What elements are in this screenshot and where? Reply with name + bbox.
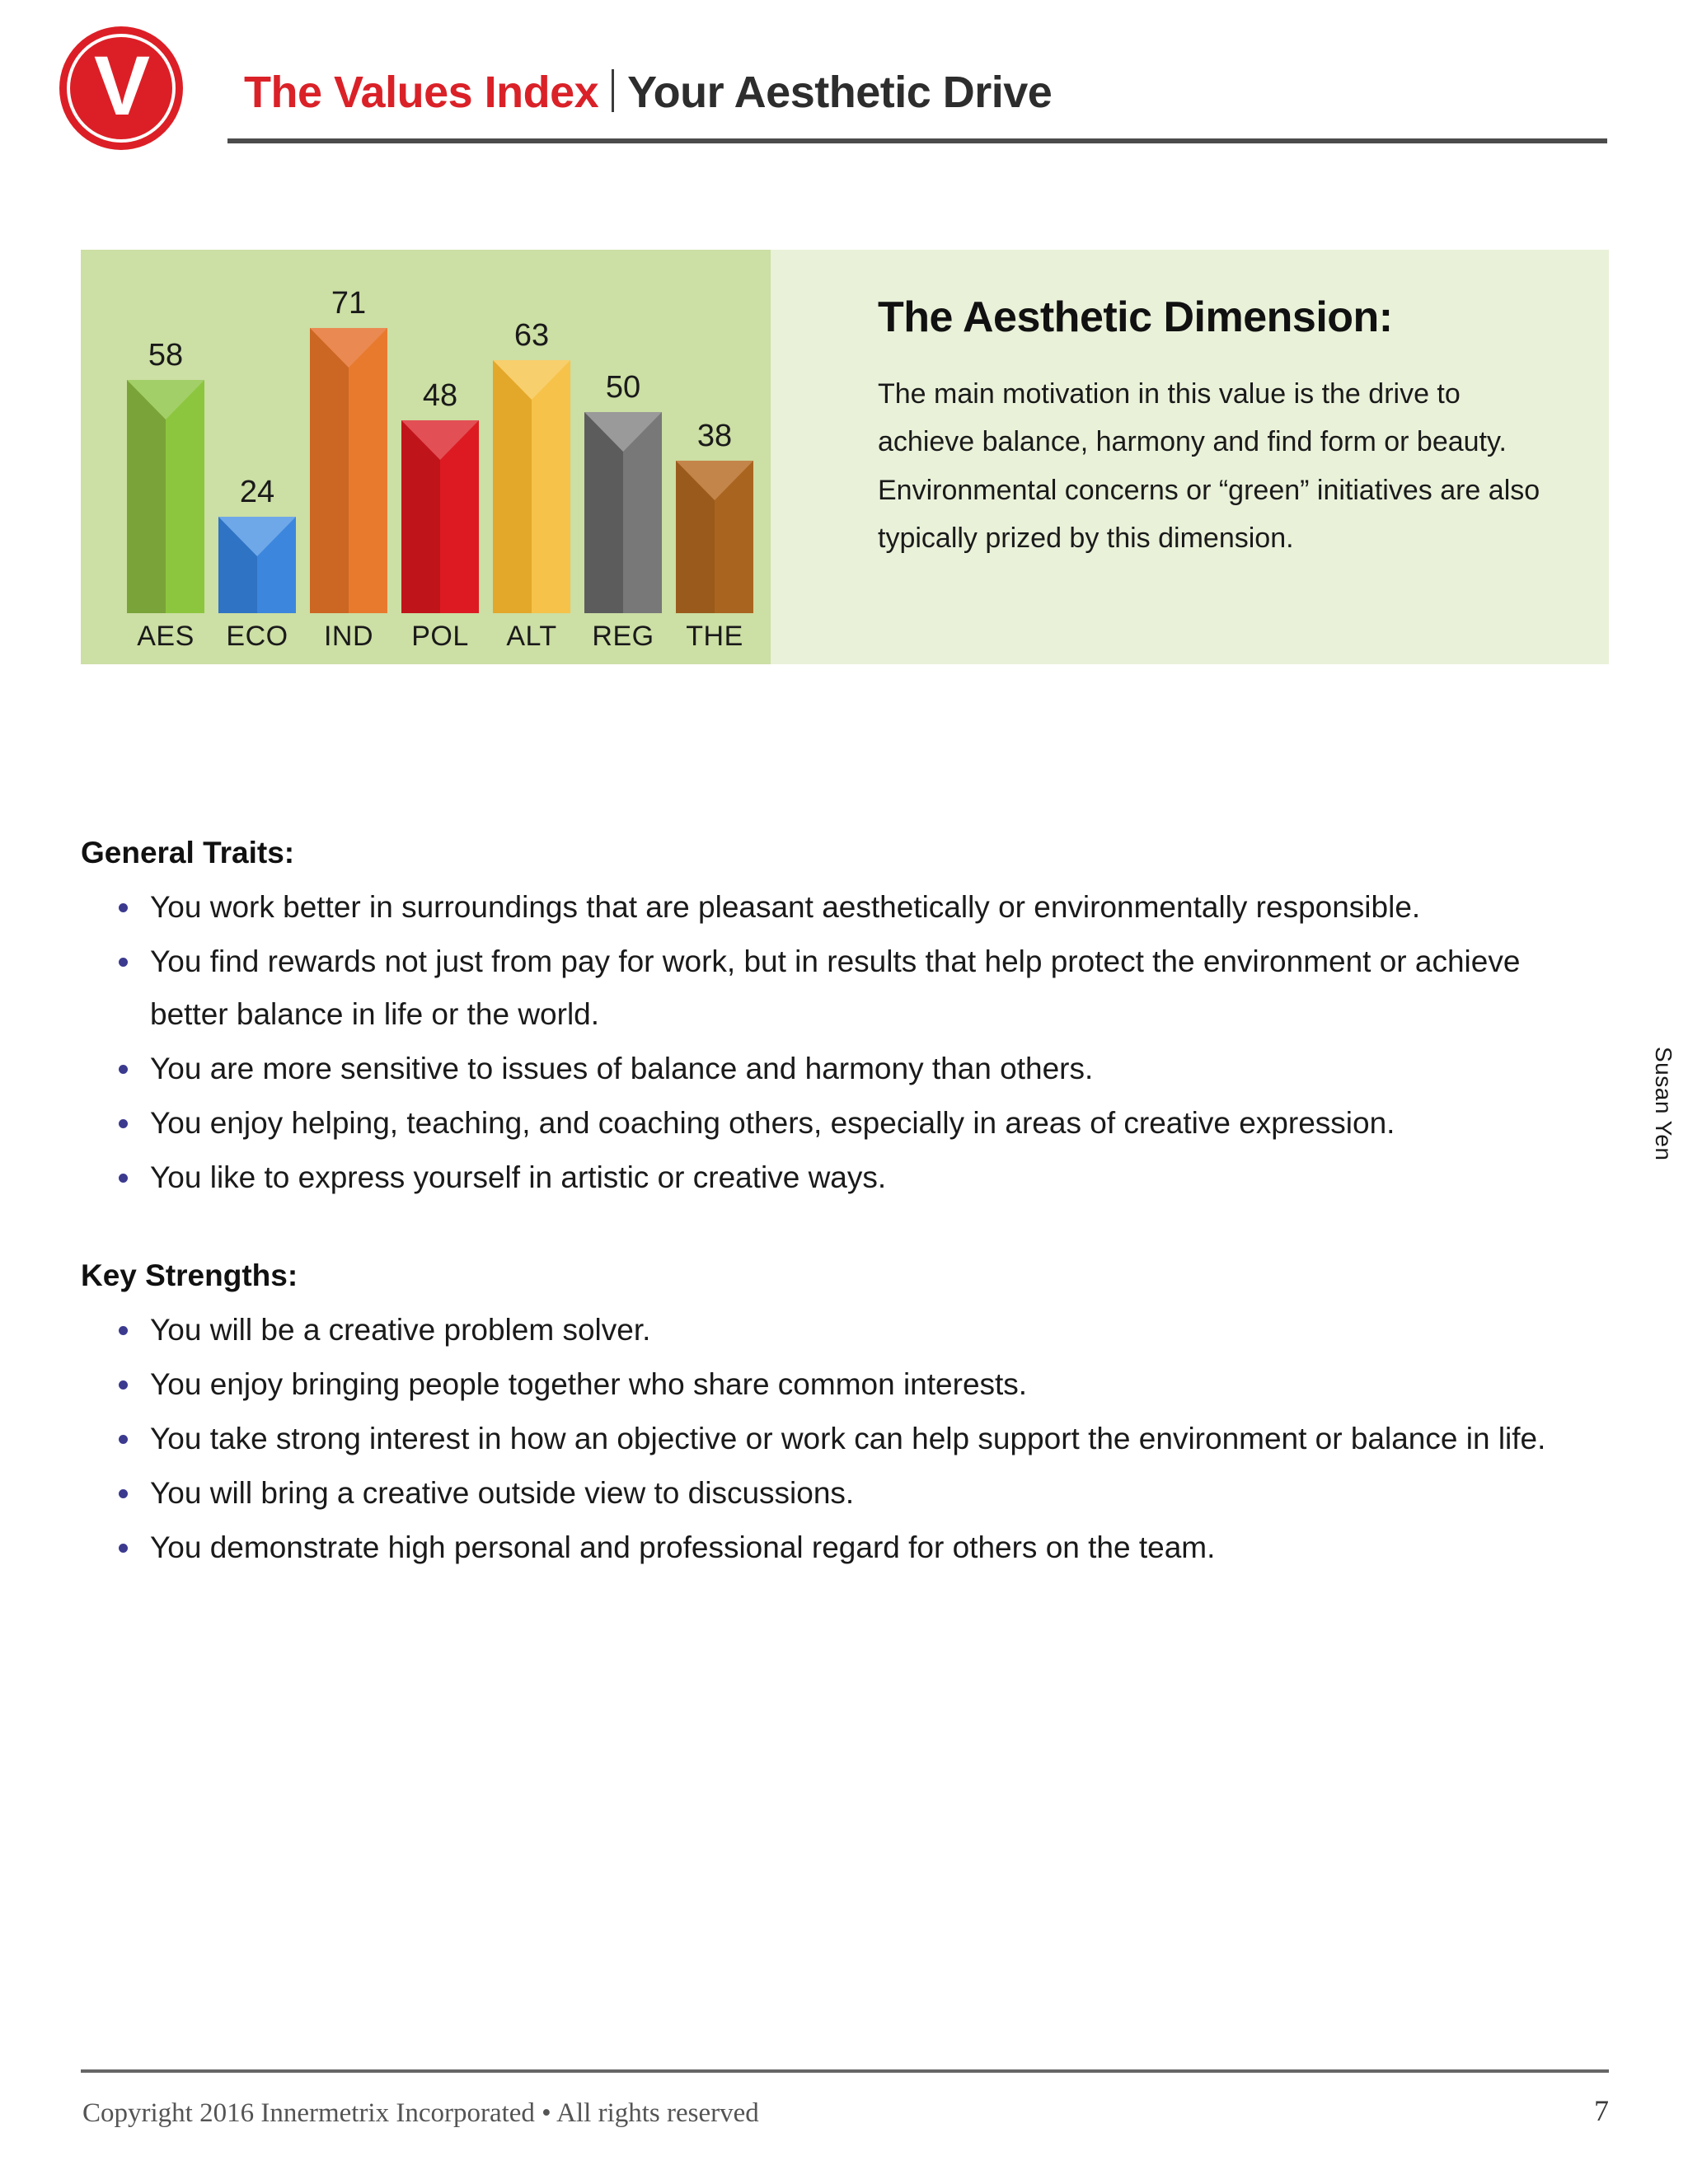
bar-category-label: POL — [401, 621, 479, 653]
list-item: You work better in surroundings that are… — [112, 881, 1564, 934]
list-item: You take strong interest in how an objec… — [112, 1413, 1564, 1465]
bar-column-the: 38 — [676, 461, 753, 613]
bar-column-eco: 24 — [218, 517, 296, 613]
respondent-name-sidebar: Susan Yen — [1650, 1047, 1676, 1160]
dimension-title: The Aesthetic Dimension: — [878, 293, 1559, 342]
bar-value-label: 38 — [676, 419, 753, 454]
report-page: V The Values Index Your Aesthetic Drive … — [0, 0, 1688, 2184]
page-header: V The Values Index Your Aesthetic Drive — [0, 0, 1688, 165]
header-divider — [227, 138, 1607, 143]
section-heading: General Traits: — [81, 836, 1564, 870]
list-item: You enjoy helping, teaching, and coachin… — [112, 1097, 1564, 1150]
page-title: The Values Index Your Aesthetic Drive — [244, 64, 1052, 118]
bar-face-right — [349, 328, 387, 613]
footer-divider — [81, 2069, 1609, 2073]
title-secondary: Your Aesthetic Drive — [627, 67, 1052, 118]
values-index-logo: V — [59, 26, 183, 150]
bar-alt — [493, 360, 570, 613]
bar-face-right — [532, 360, 570, 613]
bullet-list: You work better in surroundings that are… — [81, 881, 1564, 1204]
section-general-traits: General Traits: You work better in surro… — [81, 836, 1564, 1206]
bar-value-label: 63 — [493, 318, 570, 354]
list-item: You demonstrate high personal and profes… — [112, 1521, 1564, 1574]
bar-value-label: 48 — [401, 378, 479, 414]
bar-category-label: REG — [584, 621, 662, 653]
bar-face-left — [493, 360, 532, 613]
dimension-panel: 58AES24ECO71IND48POL63ALT50REG38THE The … — [81, 250, 1609, 664]
logo-letter: V — [94, 44, 148, 128]
bar-column-alt: 63 — [493, 360, 570, 613]
bar-value-label: 50 — [584, 370, 662, 405]
bar-category-label: ALT — [493, 621, 570, 653]
list-item: You like to express yourself in artistic… — [112, 1151, 1564, 1204]
section-key-strengths: Key Strengths: You will be a creative pr… — [81, 1258, 1564, 1576]
section-heading: Key Strengths: — [81, 1258, 1564, 1293]
title-separator-icon — [612, 69, 614, 112]
bar-category-label: IND — [310, 621, 387, 653]
bar-aes — [127, 380, 204, 613]
list-item: You are more sensitive to issues of bala… — [112, 1043, 1564, 1095]
values-bar-chart: 58AES24ECO71IND48POL63ALT50REG38THE — [81, 250, 771, 664]
list-item: You find rewards not just from pay for w… — [112, 935, 1564, 1041]
bar-category-label: ECO — [218, 621, 296, 653]
list-item: You will bring a creative outside view t… — [112, 1467, 1564, 1520]
bar-face-right — [166, 380, 204, 613]
footer-copyright: Copyright 2016 Innermetrix Incorporated … — [82, 2098, 759, 2129]
bar-eco — [218, 517, 296, 613]
list-item: You will be a creative problem solver. — [112, 1304, 1564, 1357]
bar-value-label: 24 — [218, 475, 296, 510]
bar-category-label: THE — [676, 621, 753, 653]
bar-column-reg: 50 — [584, 412, 662, 613]
dimension-description-panel: The Aesthetic Dimension: The main motiva… — [771, 250, 1609, 664]
bar-pol — [401, 420, 479, 613]
bar-value-label: 58 — [127, 338, 204, 373]
bar-ind — [310, 328, 387, 613]
bar-the — [676, 461, 753, 613]
bar-face-left — [310, 328, 349, 613]
bar-face-left — [127, 380, 166, 613]
dimension-body: The main motivation in this value is the… — [878, 370, 1559, 563]
page-number: 7 — [1594, 2093, 1609, 2128]
bar-column-aes: 58 — [127, 380, 204, 613]
bar-column-pol: 48 — [401, 420, 479, 613]
bullet-list: You will be a creative problem solver.Yo… — [81, 1304, 1564, 1574]
bar-value-label: 71 — [310, 286, 387, 321]
bar-category-label: AES — [127, 621, 204, 653]
list-item: You enjoy bringing people together who s… — [112, 1358, 1564, 1411]
bar-column-ind: 71 — [310, 328, 387, 613]
chart-plot-area: 58AES24ECO71IND48POL63ALT50REG38THE — [81, 250, 771, 664]
bar-reg — [584, 412, 662, 613]
title-primary: The Values Index — [244, 67, 598, 118]
